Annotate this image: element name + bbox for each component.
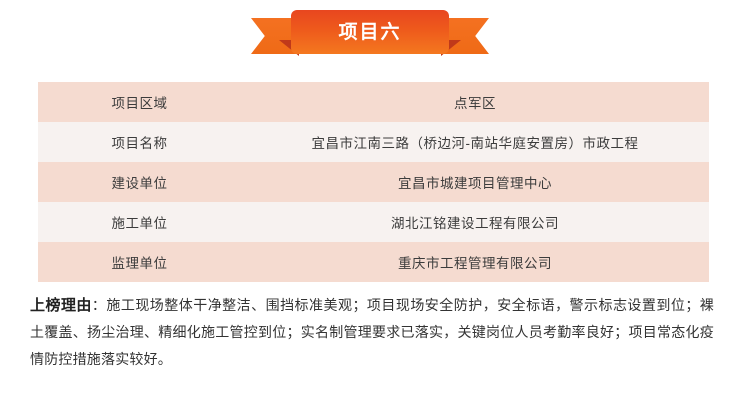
- banner-title: 项目六: [338, 23, 401, 42]
- table-row: 项目名称 宜昌市江南三路（桥边河-南站华庭安置房）市政工程: [38, 122, 709, 162]
- reason-separator: ：: [92, 297, 106, 313]
- project-info-table: 项目区域 点军区 项目名称 宜昌市江南三路（桥边河-南站华庭安置房）市政工程 建…: [38, 82, 709, 282]
- row-value: 点军区: [241, 82, 709, 122]
- project-info-table-body: 项目区域 点军区 项目名称 宜昌市江南三路（桥边河-南站华庭安置房）市政工程 建…: [38, 82, 709, 282]
- row-label: 建设单位: [38, 162, 241, 202]
- row-label: 项目区域: [38, 82, 241, 122]
- table-row: 项目区域 点军区: [38, 82, 709, 122]
- reason-title: 上榜理由: [30, 297, 92, 314]
- row-value: 湖北江铭建设工程有限公司: [241, 202, 709, 242]
- table-row: 监理单位 重庆市工程管理有限公司: [38, 242, 709, 282]
- row-value: 重庆市工程管理有限公司: [241, 242, 709, 282]
- row-value: 宜昌市城建项目管理中心: [241, 162, 709, 202]
- ribbon-body: 项目六: [291, 10, 449, 54]
- banner-section: 项目六: [0, 0, 740, 72]
- table-row: 建设单位 宜昌市城建项目管理中心: [38, 162, 709, 202]
- row-label: 监理单位: [38, 242, 241, 282]
- table-row: 施工单位 湖北江铭建设工程有限公司: [38, 202, 709, 242]
- reason-paragraph: 上榜理由：施工现场整体干净整洁、围挡标准美观；项目现场安全防护，安全标语，警示标…: [30, 292, 714, 373]
- row-label: 项目名称: [38, 122, 241, 162]
- ribbon-banner: 项目六: [291, 10, 449, 54]
- reason-body: 施工现场整体干净整洁、围挡标准美观；项目现场安全防护，安全标语，警示标志设置到位…: [30, 297, 714, 367]
- row-value: 宜昌市江南三路（桥边河-南站华庭安置房）市政工程: [241, 122, 709, 162]
- row-label: 施工单位: [38, 202, 241, 242]
